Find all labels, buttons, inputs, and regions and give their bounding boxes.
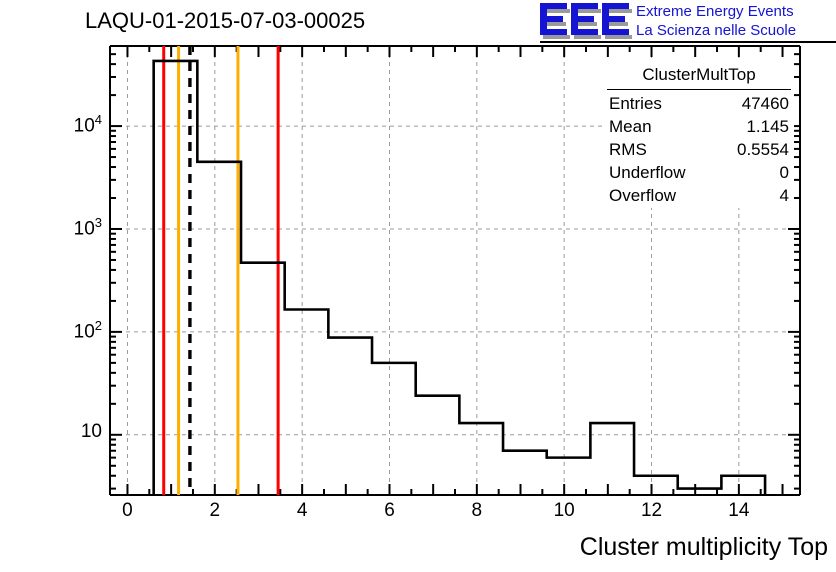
y-axis-tick-label: 10 — [40, 421, 102, 443]
x-axis-tick-label: 10 — [534, 500, 594, 522]
stats-row: RMS0.5554 — [609, 138, 789, 161]
stats-row: Underflow0 — [609, 161, 789, 184]
x-axis-tick-label: 12 — [622, 500, 682, 522]
stats-title: ClusterMultTop — [605, 65, 793, 85]
stats-row-value: 47460 — [742, 92, 789, 115]
x-axis-tick-label: 4 — [272, 500, 332, 522]
x-axis-tick-label: 14 — [709, 500, 769, 522]
stats-row: Mean1.145 — [609, 115, 789, 138]
stats-divider — [607, 89, 791, 90]
stats-row-value: 4 — [780, 184, 789, 207]
stats-row-key: Underflow — [609, 161, 686, 184]
stats-row-key: Overflow — [609, 184, 676, 207]
x-axis-tick-label: 8 — [447, 500, 507, 522]
x-axis-tick-label: 0 — [97, 500, 157, 522]
stats-row-key: Mean — [609, 115, 652, 138]
marker-lines — [164, 46, 278, 495]
stats-row-key: RMS — [609, 138, 647, 161]
stats-row-value: 0.5554 — [737, 138, 789, 161]
stats-box: ClusterMultTop Entries47460Mean1.145RMS0… — [604, 62, 794, 208]
x-axis-tick-label: 2 — [185, 500, 245, 522]
stats-row: Overflow4 — [609, 184, 789, 207]
stats-row-key: Entries — [609, 92, 662, 115]
stats-row-value: 1.145 — [746, 115, 789, 138]
x-axis-title: Cluster multiplicity Top — [580, 533, 828, 562]
x-axis-tick-label: 6 — [359, 500, 419, 522]
stats-row-value: 0 — [780, 161, 789, 184]
stats-row: Entries47460 — [609, 92, 789, 115]
y-axis-tick-label: 102 — [40, 318, 102, 343]
y-axis-tick-label: 104 — [40, 112, 102, 137]
y-axis-tick-label: 103 — [40, 215, 102, 240]
